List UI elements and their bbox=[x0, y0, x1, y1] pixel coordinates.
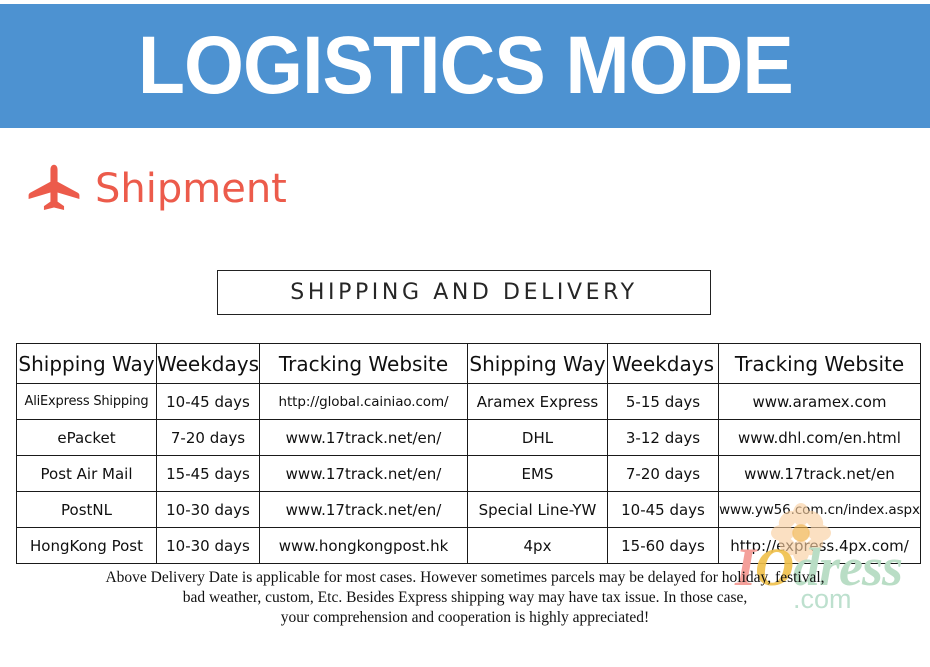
cell-shipping-way: AliExpress Shipping bbox=[17, 384, 157, 420]
section-title-box: SHIPPING AND DELIVERY bbox=[217, 270, 711, 315]
cell-weekdays: 5-15 days bbox=[608, 384, 719, 420]
header-shipping-way-right: Shipping Way bbox=[468, 344, 608, 384]
header-weekdays-right: Weekdays bbox=[608, 344, 719, 384]
airplane-icon bbox=[26, 163, 82, 215]
section-title-text: SHIPPING AND DELIVERY bbox=[290, 280, 637, 305]
cell-shipping-way: PostNL bbox=[17, 492, 157, 528]
cell-tracking-site[interactable]: www.aramex.com bbox=[719, 384, 921, 420]
cell-shipping-way: 4px bbox=[468, 528, 608, 564]
shipping-methods-table: Shipping Way Weekdays Tracking Website S… bbox=[16, 343, 921, 564]
table-header-row: Shipping Way Weekdays Tracking Website S… bbox=[17, 344, 921, 384]
cell-weekdays: 15-60 days bbox=[608, 528, 719, 564]
cell-shipping-way: Special Line-YW bbox=[468, 492, 608, 528]
shipment-heading: Shipment bbox=[26, 163, 287, 215]
delivery-disclaimer: Above Delivery Date is applicable for mo… bbox=[0, 568, 930, 628]
cell-weekdays: 7-20 days bbox=[608, 456, 719, 492]
cell-tracking-site[interactable]: www.17track.net/en/ bbox=[260, 420, 468, 456]
cell-tracking-site[interactable]: www.17track.net/en/ bbox=[260, 456, 468, 492]
header-weekdays-left: Weekdays bbox=[157, 344, 260, 384]
cell-weekdays: 10-30 days bbox=[157, 492, 260, 528]
cell-tracking-site[interactable]: www.hongkongpost.hk bbox=[260, 528, 468, 564]
cell-shipping-way: Aramex Express bbox=[468, 384, 608, 420]
cell-tracking-site[interactable]: www.17track.net/en/ bbox=[260, 492, 468, 528]
cell-tracking-site[interactable]: www.yw56.com.cn/index.aspx bbox=[719, 492, 921, 528]
table-row: Post Air Mail 15-45 days www.17track.net… bbox=[17, 456, 921, 492]
cell-weekdays: 7-20 days bbox=[157, 420, 260, 456]
cell-weekdays: 10-45 days bbox=[608, 492, 719, 528]
table-row: AliExpress Shipping 10-45 days http://gl… bbox=[17, 384, 921, 420]
cell-tracking-site[interactable]: http://express.4px.com/ bbox=[719, 528, 921, 564]
cell-tracking-site[interactable]: www.17track.net/en bbox=[719, 456, 921, 492]
cell-shipping-way: Post Air Mail bbox=[17, 456, 157, 492]
cell-shipping-way: DHL bbox=[468, 420, 608, 456]
cell-tracking-site[interactable]: www.dhl.com/en.html bbox=[719, 420, 921, 456]
header-tracking-right: Tracking Website bbox=[719, 344, 921, 384]
header-tracking-left: Tracking Website bbox=[260, 344, 468, 384]
cell-shipping-way: HongKong Post bbox=[17, 528, 157, 564]
cell-tracking-site[interactable]: http://global.cainiao.com/ bbox=[260, 384, 468, 420]
cell-weekdays: 3-12 days bbox=[608, 420, 719, 456]
header-banner: LOGISTICS MODE bbox=[0, 4, 930, 128]
cell-weekdays: 15-45 days bbox=[157, 456, 260, 492]
cell-shipping-way: ePacket bbox=[17, 420, 157, 456]
cell-weekdays: 10-45 days bbox=[157, 384, 260, 420]
shipment-label: Shipment bbox=[95, 169, 287, 209]
table-row: ePacket 7-20 days www.17track.net/en/ DH… bbox=[17, 420, 921, 456]
cell-weekdays: 10-30 days bbox=[157, 528, 260, 564]
table-row: PostNL 10-30 days www.17track.net/en/ Sp… bbox=[17, 492, 921, 528]
disclaimer-line-1: Above Delivery Date is applicable for mo… bbox=[0, 568, 930, 588]
table-row: HongKong Post 10-30 days www.hongkongpos… bbox=[17, 528, 921, 564]
page-title: LOGISTICS MODE bbox=[138, 25, 793, 107]
cell-shipping-way: EMS bbox=[468, 456, 608, 492]
disclaimer-line-3: your comprehension and cooperation is hi… bbox=[0, 608, 930, 628]
header-shipping-way-left: Shipping Way bbox=[17, 344, 157, 384]
disclaimer-line-2: bad weather, custom, Etc. Besides Expres… bbox=[0, 588, 930, 608]
